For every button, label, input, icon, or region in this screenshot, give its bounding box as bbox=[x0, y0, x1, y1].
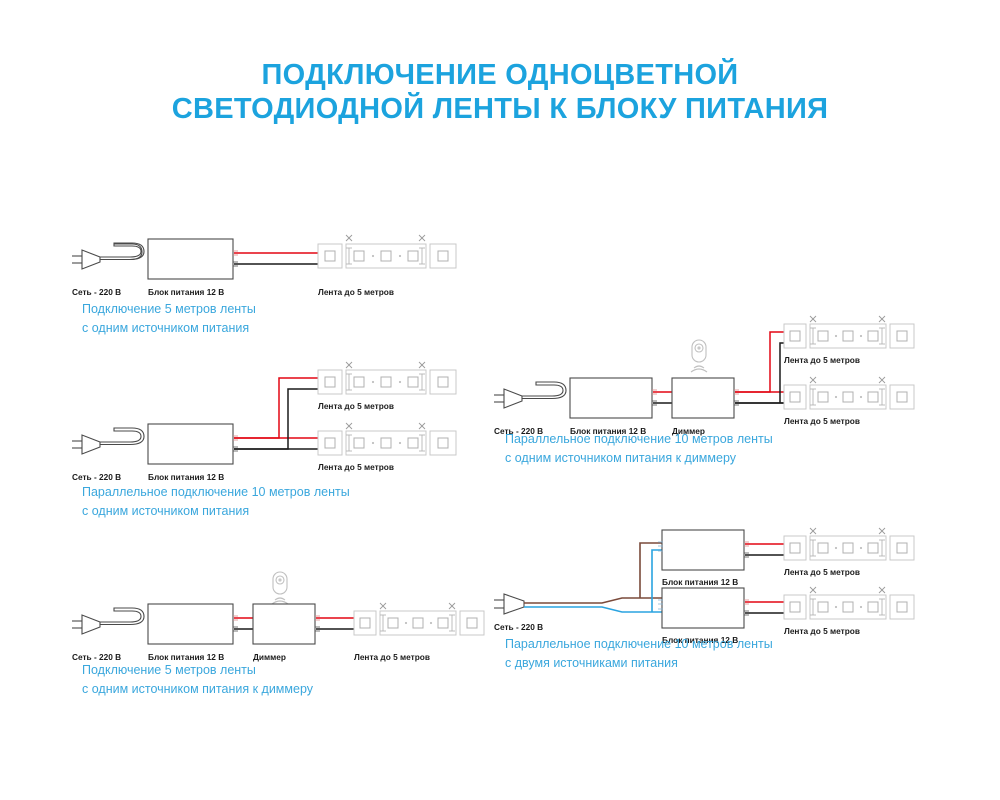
caption-line-2: с одним источником питания к диммеру bbox=[505, 449, 773, 468]
caption-line-2: с одним источником питания bbox=[82, 319, 256, 338]
label-power-supply: Блок питания 12 В bbox=[148, 472, 224, 482]
label-power-supply: Блок питания 12 В bbox=[148, 287, 224, 297]
caption-line-1: Подключение 5 метров ленты bbox=[82, 300, 256, 319]
diagram-parallel-10m-one-psu-svg bbox=[70, 368, 490, 468]
cut-mark-icon bbox=[346, 235, 425, 241]
led-strip-top bbox=[784, 528, 914, 560]
caption-single-5m: Подключение 5 метров ленты с одним источ… bbox=[82, 300, 256, 338]
ac-wires bbox=[524, 543, 662, 612]
mains-plug-icon bbox=[494, 594, 524, 614]
caption-line-1: Параллельное подключение 10 метров ленты bbox=[505, 635, 773, 654]
diagram-single-5m: Сеть - 220 В Блок питания 12 В Лента до … bbox=[70, 235, 490, 283]
dimmer-box bbox=[672, 378, 739, 418]
dc-wires-bottom bbox=[745, 602, 784, 613]
mains-plug-icon bbox=[72, 428, 144, 454]
caption-line-2: с одним источником питания к диммеру bbox=[82, 680, 313, 699]
caption-line-1: Подключение 5 метров ленты bbox=[82, 661, 313, 680]
led-strip-bottom bbox=[784, 587, 914, 619]
page-title-line-1: ПОДКЛЮЧЕНИЕ ОДНОЦВЕТНОЙ bbox=[0, 58, 1000, 92]
label-led-strip-top: Лента до 5 метров bbox=[784, 355, 860, 365]
power-supply-box bbox=[570, 378, 657, 418]
caption-line-1: Параллельное подключение 10 метров ленты bbox=[82, 483, 350, 502]
caption-line-1: Параллельное подключение 10 метров ленты bbox=[505, 430, 773, 449]
caption-line-2: с одним источником питания bbox=[82, 502, 350, 521]
cut-mark-icon bbox=[380, 603, 455, 609]
label-power-supply-top: Блок питания 12 В bbox=[662, 577, 738, 587]
label-led-strip-top: Лента до 5 метров bbox=[318, 401, 394, 411]
diagram-parallel-10m-dimmer: Лента до 5 метров Сеть - 220 В Блок пита… bbox=[492, 322, 922, 422]
diagram-parallel-10m-one-psu: Лента до 5 метров Сеть - 220 В Блок пита… bbox=[70, 368, 490, 468]
caption-single-5m-dimmer: Подключение 5 метров ленты с одним источ… bbox=[82, 661, 313, 699]
power-supply-box bbox=[148, 239, 238, 279]
led-strip-bottom bbox=[318, 423, 456, 455]
caption-parallel-10m-two-psu: Параллельное подключение 10 метров ленты… bbox=[505, 635, 773, 673]
diagram-single-5m-svg bbox=[70, 235, 490, 283]
diagram-single-5m-dimmer-svg bbox=[70, 570, 490, 648]
mains-plug-icon bbox=[494, 382, 566, 408]
caption-line-2: с двумя источниками питания bbox=[505, 654, 773, 673]
remote-control-icon bbox=[272, 572, 288, 604]
led-strip-top bbox=[318, 362, 456, 394]
dimmer-to-strip-wires bbox=[316, 618, 356, 629]
diagram-parallel-10m-dimmer-svg bbox=[492, 322, 922, 422]
page-title: ПОДКЛЮЧЕНИЕ ОДНОЦВЕТНОЙ СВЕТОДИОДНОЙ ЛЕН… bbox=[0, 58, 1000, 126]
diagram-parallel-10m-two-psu: Блок питания 12 В Лента до 5 метров Сеть… bbox=[492, 522, 922, 632]
label-led-strip-bottom: Лента до 5 метров bbox=[318, 462, 394, 472]
label-mains: Сеть - 220 В bbox=[494, 622, 543, 632]
label-led-strip-bottom: Лента до 5 метров bbox=[784, 626, 860, 636]
cut-mark-icon bbox=[810, 377, 885, 383]
dc-wires bbox=[234, 253, 320, 264]
cut-mark-icon bbox=[810, 528, 885, 534]
dimmer-box bbox=[253, 604, 320, 644]
label-led-strip: Лента до 5 метров bbox=[354, 652, 430, 662]
remote-control-icon bbox=[691, 340, 707, 372]
caption-parallel-10m-dimmer: Параллельное подключение 10 метров ленты… bbox=[505, 430, 773, 468]
power-supply-box bbox=[148, 424, 238, 464]
dc-wires-branching bbox=[234, 378, 318, 449]
led-strip-bottom bbox=[784, 377, 914, 409]
label-mains: Сеть - 220 В bbox=[72, 287, 121, 297]
power-supply-box bbox=[148, 604, 238, 644]
cut-mark-icon bbox=[346, 362, 425, 368]
dimmer-to-strips-wires bbox=[735, 332, 784, 403]
cut-mark-icon bbox=[346, 423, 425, 429]
led-strip bbox=[318, 235, 456, 268]
page-title-line-2: СВЕТОДИОДНОЙ ЛЕНТЫ К БЛОКУ ПИТАНИЯ bbox=[0, 92, 1000, 126]
power-supply-box-bottom bbox=[658, 588, 749, 628]
label-led-strip-top: Лента до 5 метров bbox=[784, 567, 860, 577]
mains-plug-icon bbox=[72, 243, 144, 269]
dc-wires-top bbox=[745, 544, 784, 555]
mains-plug-icon bbox=[72, 608, 144, 634]
caption-parallel-10m-one-psu: Параллельное подключение 10 метров ленты… bbox=[82, 483, 350, 521]
led-strip-top bbox=[784, 316, 914, 348]
label-led-strip: Лента до 5 метров bbox=[318, 287, 394, 297]
cut-mark-icon bbox=[810, 587, 885, 593]
power-supply-box-top bbox=[658, 530, 749, 570]
label-mains: Сеть - 220 В bbox=[72, 472, 121, 482]
led-strip bbox=[354, 603, 484, 635]
diagram-single-5m-dimmer: Сеть - 220 В Блок питания 12 В Диммер Ле… bbox=[70, 570, 490, 648]
label-led-strip-bottom: Лента до 5 метров bbox=[784, 416, 860, 426]
cut-mark-icon bbox=[810, 316, 885, 322]
